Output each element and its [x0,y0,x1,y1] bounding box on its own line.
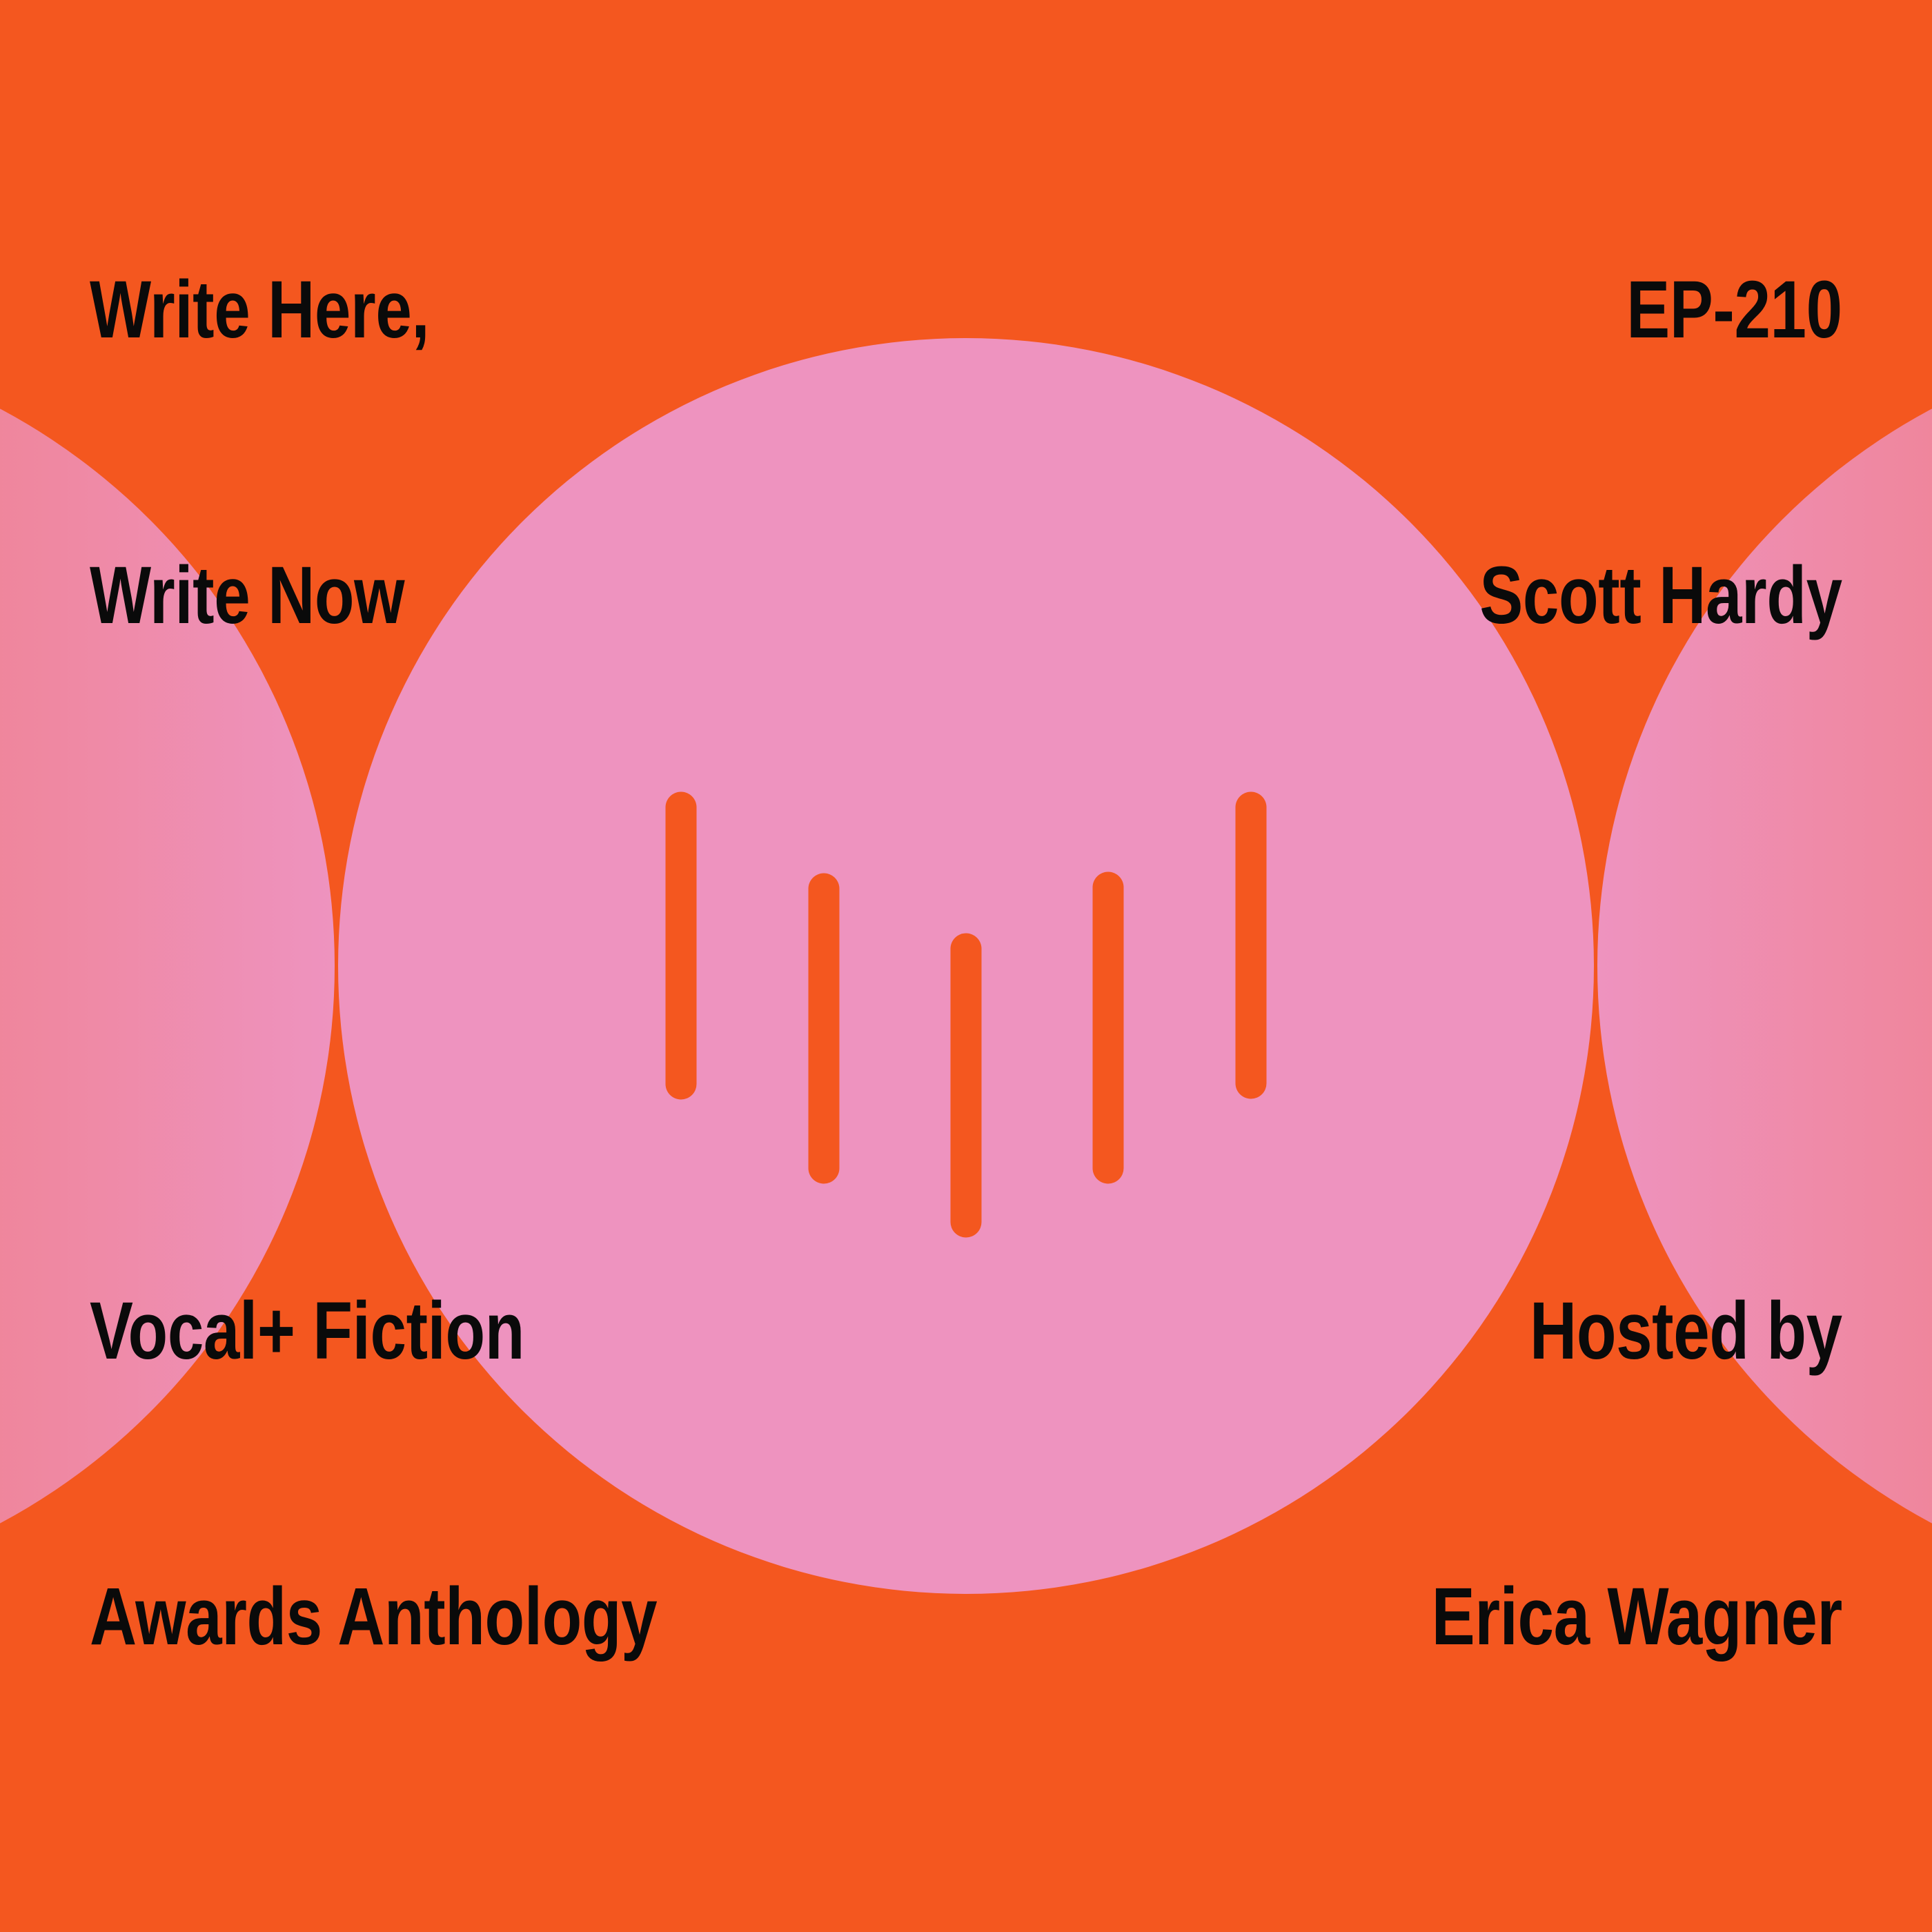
episode-meta: EP-210 Scott Hardy [1480,72,1842,834]
hosted-by-label: Hosted by [1432,1283,1842,1379]
host-name: Erica Wagner [1432,1569,1842,1664]
show-title: Write Here, Write Now [90,72,429,834]
guest-name: Scott Hardy [1480,548,1842,643]
show-title-line-2: Write Now [90,548,429,643]
podcast-cover-artwork: Write Here, Write Now EP-210 Scott Hardy… [0,0,1932,1932]
series-name-line-1: Vocal+ Fiction [90,1283,657,1379]
series-name-line-2: Awards Anthology [90,1569,657,1664]
series-name: Vocal+ Fiction Awards Anthology [90,1093,657,1855]
show-title-line-1: Write Here, [90,262,429,357]
host-credit: Hosted by Erica Wagner [1432,1093,1842,1855]
episode-number: EP-210 [1480,262,1842,357]
